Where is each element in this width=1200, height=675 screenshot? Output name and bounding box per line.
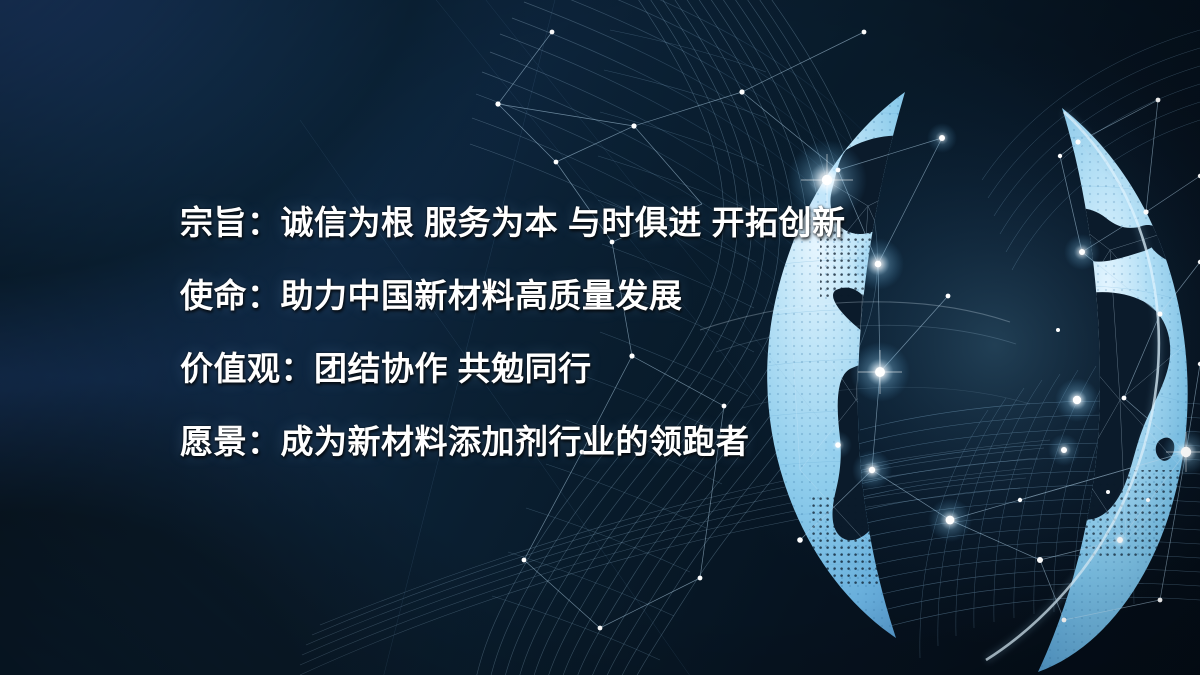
statement-text-values: 价值观：团结协作 共勉同行 — [180, 352, 592, 385]
statement-line-vision: 愿景：成为新材料添加剂行业的领跑者 — [180, 405, 846, 478]
statement-line-purpose: 宗旨：诚信为根 服务为本 与时俱进 开拓创新 — [180, 186, 846, 259]
statement-line-mission: 使命：助力中国新材料高质量发展 — [180, 259, 846, 332]
statement-text-mission: 使命：助力中国新材料高质量发展 — [180, 279, 683, 312]
statement-text-purpose: 宗旨：诚信为根 服务为本 与时俱进 开拓创新 — [180, 206, 846, 239]
mission-statement-block: 宗旨：诚信为根 服务为本 与时俱进 开拓创新 使命：助力中国新材料高质量发展 价… — [180, 186, 846, 478]
statement-text-vision: 愿景：成为新材料添加剂行业的领跑者 — [180, 425, 750, 458]
slide-canvas: 宗旨：诚信为根 服务为本 与时俱进 开拓创新 使命：助力中国新材料高质量发展 价… — [0, 0, 1200, 675]
statement-line-values: 价值观：团结协作 共勉同行 — [180, 332, 846, 405]
